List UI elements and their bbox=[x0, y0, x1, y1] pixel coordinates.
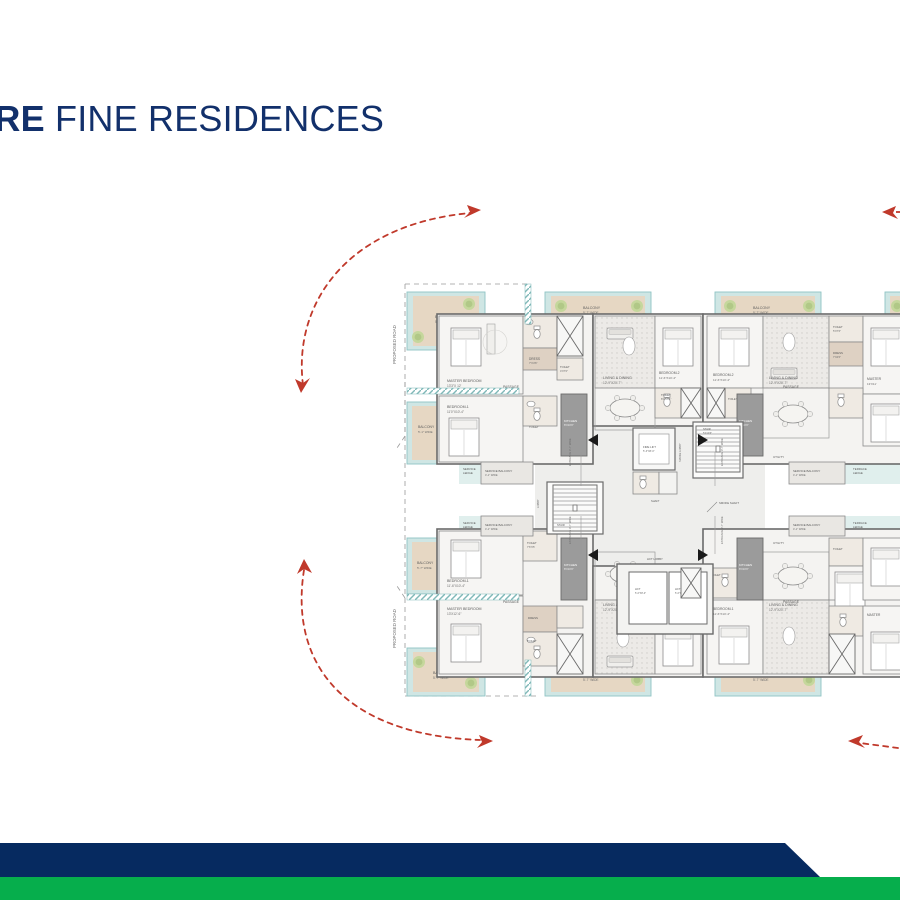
core-label: LIFT bbox=[675, 587, 681, 591]
room-label: TOILET bbox=[529, 425, 539, 429]
core-label: FIRE LIFT bbox=[643, 445, 656, 449]
room-toilet bbox=[557, 358, 583, 380]
room-sublabel: 5'-7" WIDE bbox=[583, 678, 599, 682]
room-sublabel: 13'3"X 12' bbox=[447, 384, 462, 388]
svg-text:SMOKE LOBBY: SMOKE LOBBY bbox=[678, 443, 682, 462]
room-label: SERVICE BALCONY bbox=[485, 469, 512, 473]
room-label: PASSAGE bbox=[783, 385, 800, 389]
room-label: UTILITY bbox=[773, 541, 784, 545]
shaft-cross bbox=[829, 634, 855, 674]
copy-line: ENT bbox=[0, 359, 180, 387]
core-label: SHAFT bbox=[651, 499, 660, 503]
room-label: KITCHEN bbox=[564, 419, 577, 423]
edge-label-road-top: PROPOSED ROAD bbox=[392, 325, 397, 364]
room-toilet bbox=[829, 388, 863, 418]
copy-line: T SOME bbox=[0, 546, 180, 574]
svg-text:ENTRANCE 3'-7" WIDE: ENTRANCE 3'-7" WIDE bbox=[720, 516, 724, 544]
room-sublabel: 8'1"X5'1" bbox=[661, 397, 671, 401]
svg-text:ENTRANCE 3'-7" WIDE: ENTRANCE 3'-7" WIDE bbox=[568, 516, 572, 544]
room-label: MASTER bbox=[867, 377, 882, 381]
copy-paragraph-5: ED CITY OR bbox=[0, 622, 180, 650]
room-sublabel: 4'-1" WIDE bbox=[485, 473, 498, 477]
copy-line: ED CITY OR bbox=[0, 622, 180, 650]
core-sublabel: 5'X10'6" bbox=[703, 432, 712, 435]
room-sublabel: LEDGE bbox=[853, 471, 863, 475]
core-sublabel: 5'-3"X8'-0" bbox=[643, 450, 655, 453]
copy-paragraph-1: TION bbox=[0, 278, 180, 306]
room-label: BEDROOM-2 bbox=[659, 371, 680, 375]
room-label: BALCONY bbox=[417, 561, 434, 565]
room-label: TOILET bbox=[833, 547, 843, 551]
body-copy: TION EE VIEW ENT O BALCONY ER GHT IN T S… bbox=[0, 278, 180, 675]
room-toilet bbox=[829, 316, 863, 342]
shaft-cross bbox=[557, 316, 583, 356]
room-sublabel: 8'X10'0" bbox=[564, 567, 574, 571]
edge-label-road-bottom: PROPOSED ROAD bbox=[392, 609, 397, 648]
bottom-right-dashed-arrow bbox=[820, 715, 900, 770]
floor-plan-drawing: PROPOSED ROAD PROPOSED ROAD BALCONY 5'-7… bbox=[385, 276, 900, 704]
room-label: TOILET bbox=[833, 325, 843, 329]
room-label: BEDROOM-1 bbox=[447, 405, 469, 409]
room-sublabel: LEDGE bbox=[853, 525, 863, 529]
shaft-cross bbox=[681, 568, 701, 598]
room-label: LIVING & DINING bbox=[769, 376, 798, 380]
room-label: DRESS bbox=[833, 351, 843, 355]
page-title-normal: FINE RESIDENCES bbox=[45, 98, 384, 139]
room-label: PASSAGE bbox=[503, 600, 520, 604]
room-sublabel: 12'-9"X20'-7" bbox=[603, 381, 621, 385]
room-label: BEDROOM-1 bbox=[447, 579, 469, 583]
room-label: BEDROOM-2 bbox=[713, 373, 734, 377]
core-label: SMOKE SHAFT bbox=[719, 501, 739, 505]
room-label: BALCONY bbox=[418, 425, 435, 429]
shaft-cross bbox=[681, 388, 701, 418]
room-label: BALCONY bbox=[583, 306, 601, 310]
room-toilet bbox=[829, 538, 863, 566]
copy-line: TION bbox=[0, 278, 180, 306]
room-sublabel: 4'-1" WIDE bbox=[793, 473, 806, 477]
core-label: STAIR bbox=[557, 523, 565, 527]
room-sublabel: 8'X10'0" bbox=[739, 567, 749, 571]
room-sublabel: 11'-6"X10'-4" bbox=[713, 612, 730, 616]
room-service-balcony bbox=[789, 462, 845, 484]
room-label: TOILET bbox=[728, 397, 738, 401]
svg-text:LOBBY: LOBBY bbox=[536, 499, 540, 508]
room-sublabel: 11'-6"X10'-4" bbox=[447, 584, 465, 588]
room-toilet bbox=[557, 606, 583, 628]
copy-line: EE VIEW bbox=[0, 331, 180, 359]
page-title: CORE FINE RESIDENCES bbox=[0, 98, 384, 140]
room-sublabel: 4'-1" WIDE bbox=[793, 527, 806, 531]
room-label: UTILITY bbox=[773, 455, 784, 459]
top-right-arrowhead bbox=[830, 185, 900, 240]
room-sublabel: 5'-1" WIDE bbox=[418, 430, 433, 434]
shaft-cross bbox=[707, 388, 725, 418]
svg-text:ENTRANCE 3'-7" WIDE: ENTRANCE 3'-7" WIDE bbox=[568, 438, 572, 466]
room-sublabel: 11'-6"X10'-4" bbox=[713, 378, 730, 382]
room-sublabel: 7'6"X5' bbox=[527, 545, 535, 549]
room-label: SERVICE BALCONY bbox=[793, 469, 820, 473]
room-label: KITCHEN bbox=[564, 563, 577, 567]
room-label: MASTER BEDROOM bbox=[447, 379, 482, 383]
room-label: TOILET bbox=[527, 639, 537, 643]
core-lift-1 bbox=[629, 572, 667, 624]
room-sublabel: LEDGE bbox=[463, 471, 473, 475]
room-service-balcony bbox=[481, 462, 533, 484]
room-label: KITCHEN bbox=[739, 563, 752, 567]
room-label: LIVING & DINING bbox=[603, 376, 632, 380]
copy-paragraph-2: EE VIEW ENT bbox=[0, 331, 180, 387]
room-label: PASSAGE bbox=[783, 600, 800, 604]
copy-paragraph-3: O BALCONY ER bbox=[0, 412, 180, 468]
shaft-cross bbox=[557, 634, 583, 674]
footer-navy-bar bbox=[0, 843, 830, 877]
room-sublabel: 7'X4'6" bbox=[833, 355, 841, 359]
floor-plan[interactable]: PROPOSED ROAD PROPOSED ROAD BALCONY 5'-7… bbox=[385, 276, 900, 704]
copy-line: O BALCONY bbox=[0, 412, 180, 440]
copy-line: GHT IN bbox=[0, 518, 180, 546]
room-sublabel: 4'X7'0" bbox=[560, 369, 568, 373]
room-sublabel: 5'-7" WIDE bbox=[417, 566, 432, 570]
room-sublabel: LEDGE bbox=[463, 525, 473, 529]
room-label: TOILET bbox=[661, 393, 671, 397]
room-sublabel: 13'X12'-6" bbox=[447, 612, 461, 616]
room-sublabel: 12'-9"X20'-7" bbox=[769, 608, 787, 612]
room-label: MASTER bbox=[867, 613, 881, 617]
svg-text:ENTRANCE 3'-7" WIDE: ENTRANCE 3'-7" WIDE bbox=[720, 438, 724, 466]
room-label: TOILET bbox=[560, 365, 570, 369]
room-label: TOILET bbox=[527, 541, 537, 545]
core-sublabel: 5'-6"X8'-0" bbox=[635, 592, 646, 595]
copy-paragraph-4: GHT IN T SOME bbox=[0, 518, 180, 574]
room-sublabel: 13'X11' bbox=[867, 382, 877, 386]
room-sublabel: 5'-7" WIDE bbox=[753, 678, 769, 682]
room-sublabel: 7'X4'6" bbox=[529, 361, 538, 365]
room-sublabel: 8'X10'0" bbox=[564, 423, 574, 427]
room-sublabel: 11'0"X10'-4" bbox=[447, 410, 464, 414]
core-label: STAIR bbox=[703, 427, 711, 431]
room-label: SERVICE BALCONY bbox=[485, 523, 512, 527]
room-label: BEDROOM-1 bbox=[713, 607, 734, 611]
copy-line: ER bbox=[0, 440, 180, 468]
page-title-bold: CORE bbox=[0, 98, 45, 139]
core-label: LIFT bbox=[635, 587, 641, 591]
room-label: SERVICE BALCONY bbox=[793, 523, 820, 527]
room-label: MASTER BEDROOM bbox=[447, 607, 482, 611]
room-sublabel: 4'-1" WIDE bbox=[485, 527, 498, 531]
core-shaft bbox=[659, 472, 677, 494]
room-sublabel: 11'-6"X10'-4" bbox=[659, 376, 676, 380]
room-sublabel: 5'X7'6" bbox=[833, 329, 841, 333]
room-label: BALCONY bbox=[753, 306, 771, 310]
footer-green-bar bbox=[0, 877, 900, 900]
room-label: DRESS bbox=[528, 616, 538, 620]
core-label: LIFT LOBBY bbox=[647, 557, 663, 561]
